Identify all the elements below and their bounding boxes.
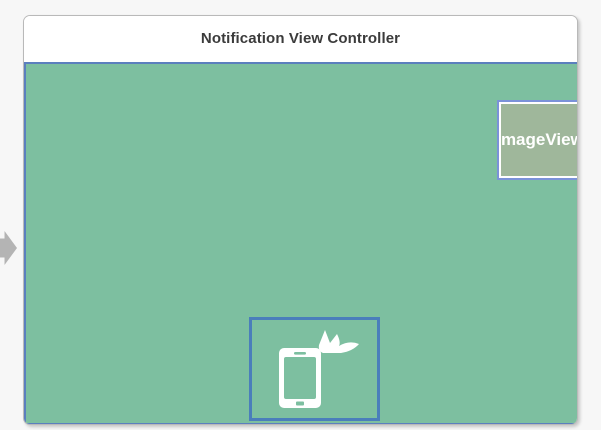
image-view[interactable]: ImageView — [497, 100, 578, 180]
storyboard-canvas[interactable]: Notification View Controller ImageView — [0, 0, 601, 430]
scene-titlebar[interactable]: Notification View Controller — [24, 16, 577, 61]
arrow-right-icon[interactable] — [0, 231, 17, 265]
image-view-label: ImageView — [497, 130, 578, 150]
notification-phone-icon — [252, 320, 377, 418]
notification-placeholder-box[interactable] — [249, 317, 380, 421]
root-view[interactable]: ImageView — [24, 62, 578, 425]
scene-card[interactable]: Notification View Controller ImageView — [23, 15, 578, 425]
page-title: Notification View Controller — [201, 30, 400, 47]
